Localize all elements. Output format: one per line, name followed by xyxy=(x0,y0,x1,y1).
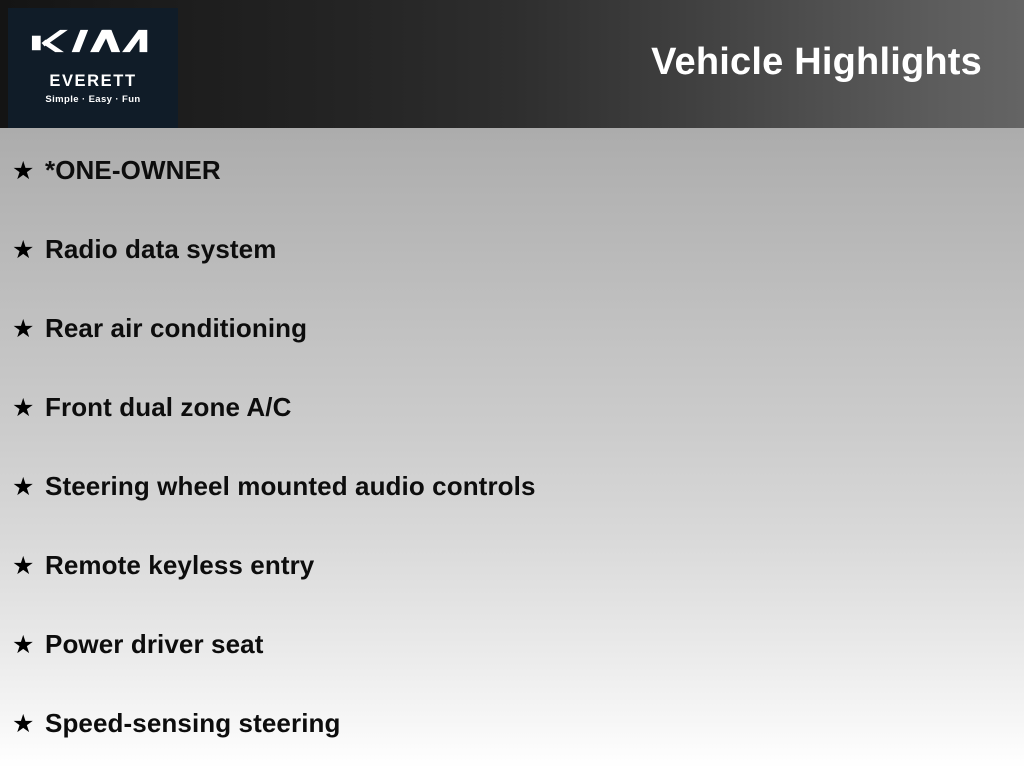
highlight-item-label: Steering wheel mounted audio controls xyxy=(45,473,536,499)
highlight-item-label: Speed-sensing steering xyxy=(45,710,341,736)
star-bullet-icon: ★ xyxy=(12,711,36,736)
star-bullet-icon: ★ xyxy=(12,237,36,262)
highlight-item-label: Power driver seat xyxy=(45,631,263,657)
dealer-tagline: Simple · Easy · Fun xyxy=(45,95,140,105)
star-bullet-icon: ★ xyxy=(12,395,36,420)
star-bullet-icon: ★ xyxy=(12,158,36,183)
dealer-name: EVERETT xyxy=(49,73,136,90)
highlight-item: ★Speed-sensing steering xyxy=(12,705,341,741)
star-bullet-icon: ★ xyxy=(12,553,36,578)
highlight-item: ★Rear air conditioning xyxy=(12,310,307,346)
highlight-item: ★Radio data system xyxy=(12,231,276,267)
star-bullet-icon: ★ xyxy=(12,474,36,499)
highlight-item: ★*ONE-OWNER xyxy=(12,152,221,188)
highlight-item: ★Power driver seat xyxy=(12,626,263,662)
highlight-item-label: Front dual zone A/C xyxy=(45,394,291,420)
highlight-item-label: Remote keyless entry xyxy=(45,552,314,578)
page-title: Vehicle Highlights xyxy=(651,42,982,84)
kia-logo-icon xyxy=(30,24,156,60)
highlight-item-label: *ONE-OWNER xyxy=(45,157,221,183)
highlight-item: ★Steering wheel mounted audio controls xyxy=(12,468,536,504)
highlight-item-label: Rear air conditioning xyxy=(45,315,307,341)
highlight-item: ★Front dual zone A/C xyxy=(12,389,291,425)
star-bullet-icon: ★ xyxy=(12,632,36,657)
slide-header: EVERETT Simple · Easy · Fun Vehicle High… xyxy=(0,0,1024,128)
highlight-item-label: Radio data system xyxy=(45,236,276,262)
highlights-list: ★*ONE-OWNER★Radio data system★Rear air c… xyxy=(0,128,1024,768)
highlight-item: ★Remote keyless entry xyxy=(12,547,314,583)
dealer-logo-tile[interactable]: EVERETT Simple · Easy · Fun xyxy=(8,8,178,128)
vehicle-highlights-slide: EVERETT Simple · Easy · Fun Vehicle High… xyxy=(0,0,1024,768)
star-bullet-icon: ★ xyxy=(12,316,36,341)
